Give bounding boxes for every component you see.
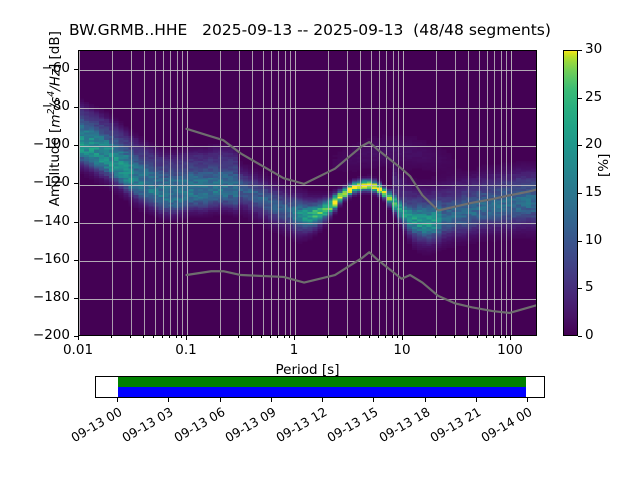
x-tick-label: 10 bbox=[393, 342, 410, 358]
ppsd-axes[interactable] bbox=[78, 50, 537, 336]
x-tick-major bbox=[402, 336, 403, 340]
y-tick-label: −180 bbox=[0, 289, 70, 305]
ppsd-figure: BW.GRMB..HHE 2025-09-13 -- 2025-09-13 (4… bbox=[0, 0, 640, 480]
x-tick-minor bbox=[143, 336, 144, 338]
colorbar-tick-label: 15 bbox=[585, 184, 602, 200]
x-tick-major bbox=[186, 336, 187, 340]
colorbar-tick-label: 5 bbox=[585, 279, 594, 295]
timeline-tick-label: 09-13 15 bbox=[320, 404, 381, 448]
y-tick-label: −160 bbox=[0, 251, 70, 267]
x-tick-major bbox=[510, 336, 511, 340]
timeline-tick-label: 09-13 00 bbox=[63, 404, 124, 448]
x-tick-minor bbox=[505, 336, 506, 338]
x-tick-minor bbox=[435, 336, 436, 338]
timeline-tick bbox=[322, 398, 323, 402]
x-tick-minor bbox=[130, 336, 131, 338]
timeline-tick bbox=[168, 398, 169, 402]
x-tick-minor bbox=[369, 336, 370, 338]
x-tick-minor bbox=[270, 336, 271, 338]
colorbar-tick bbox=[578, 288, 582, 289]
timeline-tick bbox=[271, 398, 272, 402]
y-tick bbox=[74, 260, 78, 261]
y-tick bbox=[74, 222, 78, 223]
colorbar-tick-label: 0 bbox=[585, 327, 594, 343]
timeline-tick bbox=[527, 398, 528, 402]
x-tick-minor bbox=[169, 336, 170, 338]
timeline-tick-label: 09-13 12 bbox=[268, 404, 329, 448]
x-tick-major bbox=[294, 336, 295, 340]
timeline-tick bbox=[117, 398, 118, 402]
noise-model-curves bbox=[79, 51, 536, 336]
page-title: BW.GRMB..HHE 2025-09-13 -- 2025-09-13 (4… bbox=[0, 21, 620, 39]
y-tick bbox=[74, 107, 78, 108]
colorbar-tick bbox=[578, 145, 582, 146]
x-tick-minor bbox=[392, 336, 393, 338]
y-tick bbox=[74, 145, 78, 146]
y-axis-unit-a: m bbox=[47, 115, 63, 128]
colorbar-tick bbox=[578, 336, 582, 337]
x-tick-minor bbox=[346, 336, 347, 338]
x-tick-label: 1 bbox=[290, 342, 299, 358]
y-tick bbox=[74, 69, 78, 70]
x-tick-minor bbox=[397, 336, 398, 338]
y-tick-label: −200 bbox=[0, 327, 70, 343]
x-tick-minor bbox=[111, 336, 112, 338]
timeline-tick-label: 09-13 21 bbox=[422, 404, 483, 448]
x-tick-minor bbox=[327, 336, 328, 338]
y-axis-sup-b: 4 bbox=[45, 91, 56, 97]
colorbar-label: [%] bbox=[596, 154, 612, 177]
timeline-tick-label: 09-13 03 bbox=[115, 404, 176, 448]
x-tick-minor bbox=[486, 336, 487, 338]
y-axis-sup-a: 2 bbox=[45, 108, 56, 114]
timeline-tick-label: 09-13 18 bbox=[371, 404, 432, 448]
x-tick-minor bbox=[477, 336, 478, 338]
nlnm-curve bbox=[187, 252, 536, 313]
x-tick-minor bbox=[454, 336, 455, 338]
x-tick-minor bbox=[153, 336, 154, 338]
y-axis-unit-b: /s bbox=[47, 97, 63, 109]
colorbar-tick-label: 25 bbox=[585, 89, 602, 105]
timeline-tick bbox=[220, 398, 221, 402]
x-tick-label: 0.1 bbox=[175, 342, 196, 358]
x-tick-minor bbox=[289, 336, 290, 338]
x-tick-minor bbox=[359, 336, 360, 338]
timeline-tick-label: 09-13 06 bbox=[166, 404, 227, 448]
y-tick bbox=[74, 298, 78, 299]
x-tick-minor bbox=[277, 336, 278, 338]
y-tick bbox=[74, 183, 78, 184]
x-tick-minor bbox=[251, 336, 252, 338]
colorbar-tick bbox=[578, 193, 582, 194]
y-axis-label-prefix: Amplitude [ bbox=[47, 128, 63, 207]
colorbar-tick-label: 30 bbox=[585, 41, 602, 57]
colorbar[interactable] bbox=[563, 50, 578, 336]
x-tick-minor bbox=[162, 336, 163, 338]
x-tick-minor bbox=[219, 336, 220, 338]
data-coverage-blue bbox=[118, 387, 526, 397]
timeline-tick-label: 09-14 00 bbox=[473, 404, 534, 448]
x-tick-minor bbox=[181, 336, 182, 338]
x-tick-minor bbox=[261, 336, 262, 338]
data-coverage-green bbox=[118, 377, 526, 387]
x-tick-minor bbox=[378, 336, 379, 338]
nhnm-curve bbox=[187, 129, 536, 211]
y-axis-label-suffix: ] [dB] bbox=[47, 31, 63, 69]
x-tick-minor bbox=[176, 336, 177, 338]
colorbar-tick bbox=[578, 50, 582, 51]
x-tick-major bbox=[78, 336, 79, 340]
timeline-tick-label: 09-13 09 bbox=[217, 404, 278, 448]
x-tick-minor bbox=[284, 336, 285, 338]
timeline-tick bbox=[373, 398, 374, 402]
y-axis-label: Amplitude [m2/s4/Hz] [dB] bbox=[45, 9, 63, 229]
data-coverage-timeline[interactable] bbox=[95, 376, 545, 398]
x-tick-minor bbox=[493, 336, 494, 338]
x-tick-label: 100 bbox=[497, 342, 523, 358]
x-tick-label: 0.01 bbox=[63, 342, 93, 358]
x-tick-minor bbox=[500, 336, 501, 338]
colorbar-tick-label: 10 bbox=[585, 232, 602, 248]
x-tick-minor bbox=[467, 336, 468, 338]
colorbar-tick bbox=[578, 241, 582, 242]
x-tick-minor bbox=[385, 336, 386, 338]
timeline-tick bbox=[476, 398, 477, 402]
y-axis-unit-c: /Hz bbox=[47, 69, 63, 91]
timeline-tick bbox=[425, 398, 426, 402]
x-tick-minor bbox=[238, 336, 239, 338]
colorbar-tick bbox=[578, 98, 582, 99]
colorbar-tick-label: 20 bbox=[585, 136, 602, 152]
